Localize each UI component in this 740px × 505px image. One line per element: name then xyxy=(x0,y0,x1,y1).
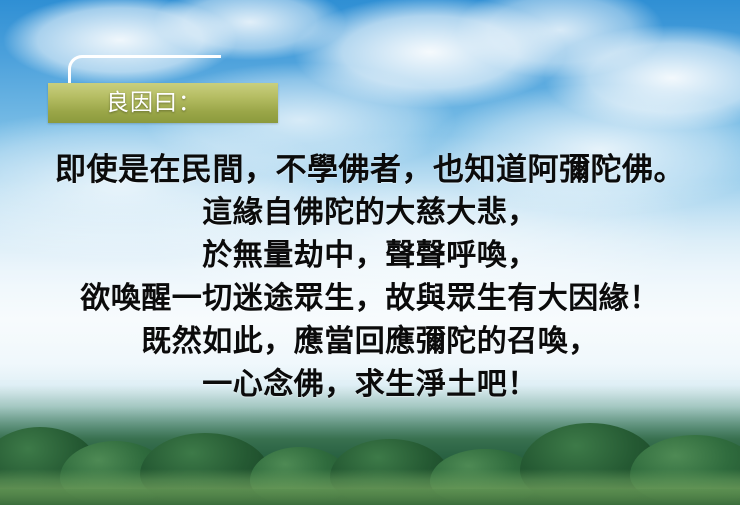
verse-line-5: 既然如此，應當回應彌陀的召喚， xyxy=(0,320,740,363)
verse-line-1: 即使是在民間，不學佛者，也知道阿彌陀佛。 xyxy=(0,148,740,191)
verse-line-4: 欲喚醒一切迷途眾生，故與眾生有大因緣！ xyxy=(0,277,740,320)
slide-canvas: 良因曰： 即使是在民間，不學佛者，也知道阿彌陀佛。 這緣自佛陀的大慈大悲， 於無… xyxy=(0,0,740,505)
verse-line-3: 於無量劫中，聲聲呼喚， xyxy=(0,234,740,277)
verse-line-6: 一心念佛，求生淨土吧！ xyxy=(0,363,740,406)
heading-banner: 良因曰： xyxy=(48,55,308,135)
grass-strip xyxy=(0,489,740,505)
heading-label: 良因曰： xyxy=(106,85,306,121)
verse-line-2: 這緣自佛陀的大慈大悲， xyxy=(0,191,740,234)
verse-block: 即使是在民間，不學佛者，也知道阿彌陀佛。 這緣自佛陀的大慈大悲， 於無量劫中，聲… xyxy=(0,148,740,406)
